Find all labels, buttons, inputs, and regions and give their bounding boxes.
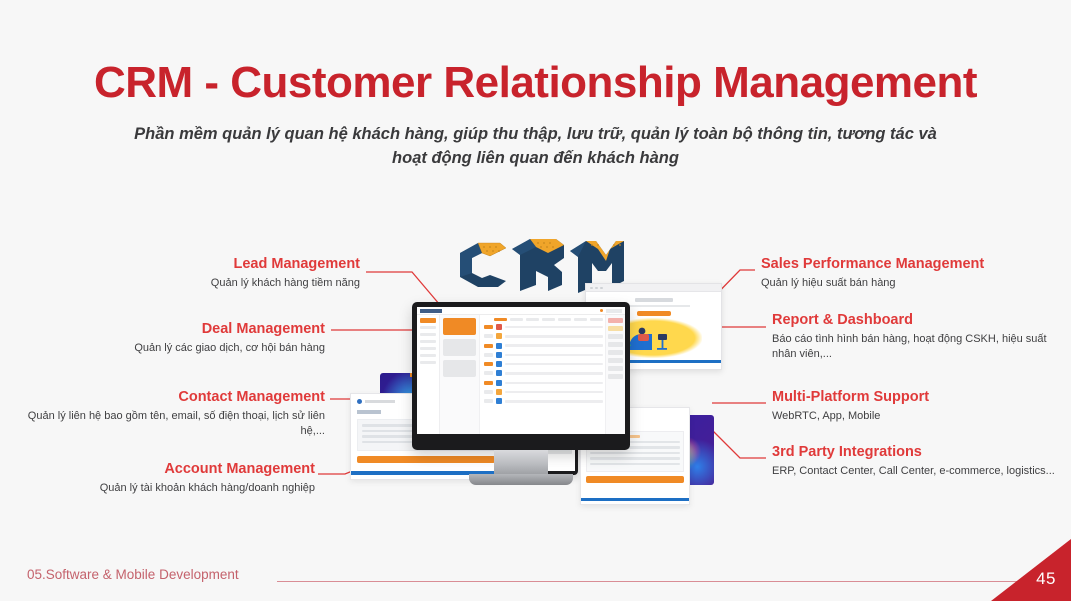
feature-description: Báo cáo tình hình bán hàng, hoạt động CS…	[772, 332, 1062, 362]
browser-titlebar	[586, 284, 721, 292]
dashboard-card-list	[440, 315, 479, 434]
feature-title: Deal Management	[40, 320, 325, 338]
feature-contact-management[interactable]: Contact Management Quản lý liên hệ bao g…	[20, 388, 325, 439]
monitor-stand-base	[469, 474, 573, 485]
feature-sales-performance-management[interactable]: Sales Performance Management Quản lý hiệ…	[761, 255, 1061, 291]
feature-title: 3rd Party Integrations	[772, 443, 1062, 461]
monitor-screen	[417, 307, 625, 434]
feature-description: Quản lý khách hàng tiềm năng	[40, 276, 360, 291]
feature-multi-platform-support[interactable]: Multi-Platform Support WebRTC, App, Mobi…	[772, 388, 1062, 424]
feature-description: Quản lý liên hệ bao gồm tên, email, số đ…	[20, 409, 325, 439]
dashboard-main-panel	[479, 315, 605, 434]
page-number: 45	[1036, 569, 1056, 589]
feature-lead-management[interactable]: Lead Management Quản lý khách hàng tiềm …	[40, 255, 360, 291]
page-title: CRM - Customer Relationship Management	[0, 57, 1071, 109]
detail-cta-button	[586, 476, 684, 483]
feature-account-management[interactable]: Account Management Quản lý tài khoản khá…	[20, 460, 315, 496]
desktop-monitor-mockup	[412, 302, 630, 450]
feature-description: Quản lý hiệu suất bán hàng	[761, 276, 1061, 291]
app-logo-dot	[357, 399, 362, 404]
form-submit-button	[357, 456, 495, 463]
feature-title: Report & Dashboard	[772, 311, 1062, 329]
browser-cta-button	[637, 311, 671, 316]
feature-description: ERP, Contact Center, Call Center, e-comm…	[772, 464, 1062, 479]
feature-description: WebRTC, App, Mobile	[772, 409, 1062, 424]
feature-title: Account Management	[20, 460, 315, 478]
feature-report-dashboard[interactable]: Report & Dashboard Báo cáo tình hình bán…	[772, 311, 1062, 362]
dashboard-sidebar	[417, 315, 440, 434]
page-subtitle: Phần mềm quản lý quan hệ khách hàng, giú…	[118, 122, 953, 170]
feature-description: Quản lý các giao dịch, cơ hội bán hàng	[40, 341, 325, 356]
feature-deal-management[interactable]: Deal Management Quản lý các giao dịch, c…	[40, 320, 325, 356]
footer-section-label: 05.Software & Mobile Development	[27, 567, 239, 582]
feature-description: Quản lý tài khoản khách hàng/doanh nghiệ…	[20, 481, 315, 496]
crm-dashboard-ui	[417, 307, 625, 434]
feature-3rd-party-integrations[interactable]: 3rd Party Integrations ERP, Contact Cent…	[772, 443, 1062, 479]
feature-title: Multi-Platform Support	[772, 388, 1062, 406]
dashboard-right-rail	[605, 315, 625, 434]
feature-title: Lead Management	[40, 255, 360, 273]
illustration-person	[624, 324, 670, 354]
browser-heading	[635, 298, 673, 302]
product-mockup-stage	[330, 225, 760, 510]
page-number-corner	[991, 539, 1071, 601]
footer-divider	[277, 581, 1029, 582]
monitor-stand-neck	[494, 450, 548, 476]
feature-title: Contact Management	[20, 388, 325, 406]
slide-canvas: CRM - Customer Relationship Management P…	[0, 0, 1071, 601]
feature-title: Sales Performance Management	[761, 255, 1061, 273]
